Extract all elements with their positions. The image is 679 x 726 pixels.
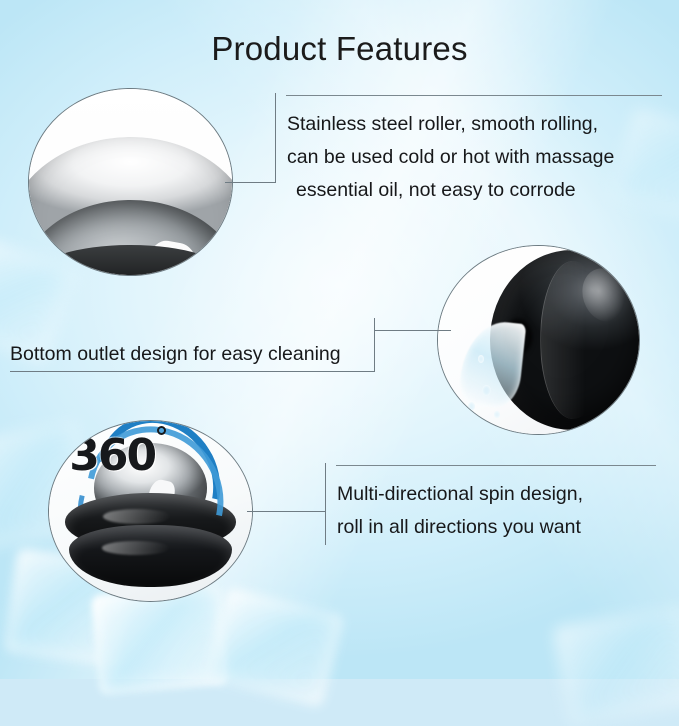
callout-multi-directional-spin: Multi-directional spin design, roll in a… bbox=[337, 478, 657, 544]
callout-line: Bottom outlet design for easy cleaning bbox=[10, 338, 370, 371]
callout-line: essential oil, not easy to corrode bbox=[287, 174, 647, 207]
photo-steel-roller-closeup bbox=[28, 88, 233, 276]
callout-rule-left bbox=[325, 463, 326, 545]
photo-360-spin: 360 bbox=[48, 420, 253, 602]
callout-leader-line bbox=[225, 182, 276, 183]
callout-line: roll in all directions you want bbox=[337, 511, 657, 544]
badge-360-number: 360 bbox=[69, 430, 155, 481]
callout-line: Stainless steel roller, smooth rolling, bbox=[287, 108, 647, 141]
callout-leader-line bbox=[375, 330, 451, 331]
callout-stainless-steel-roller: Stainless steel roller, smooth rolling, … bbox=[287, 108, 647, 207]
badge-degree-icon bbox=[157, 426, 166, 435]
callout-rule-left bbox=[275, 93, 276, 183]
callout-rule-right bbox=[374, 318, 375, 372]
callout-bottom-outlet: Bottom outlet design for easy cleaning bbox=[10, 338, 370, 371]
callout-line: can be used cold or hot with massage bbox=[287, 141, 647, 174]
callout-rule-top bbox=[336, 465, 656, 466]
callout-rule-top bbox=[286, 95, 662, 96]
page-title: Product Features bbox=[0, 30, 679, 68]
callout-leader-line bbox=[247, 511, 326, 512]
photo-water-outlet bbox=[437, 245, 640, 435]
callout-rule-bottom bbox=[10, 371, 374, 372]
callout-line: Multi-directional spin design, bbox=[337, 478, 657, 511]
